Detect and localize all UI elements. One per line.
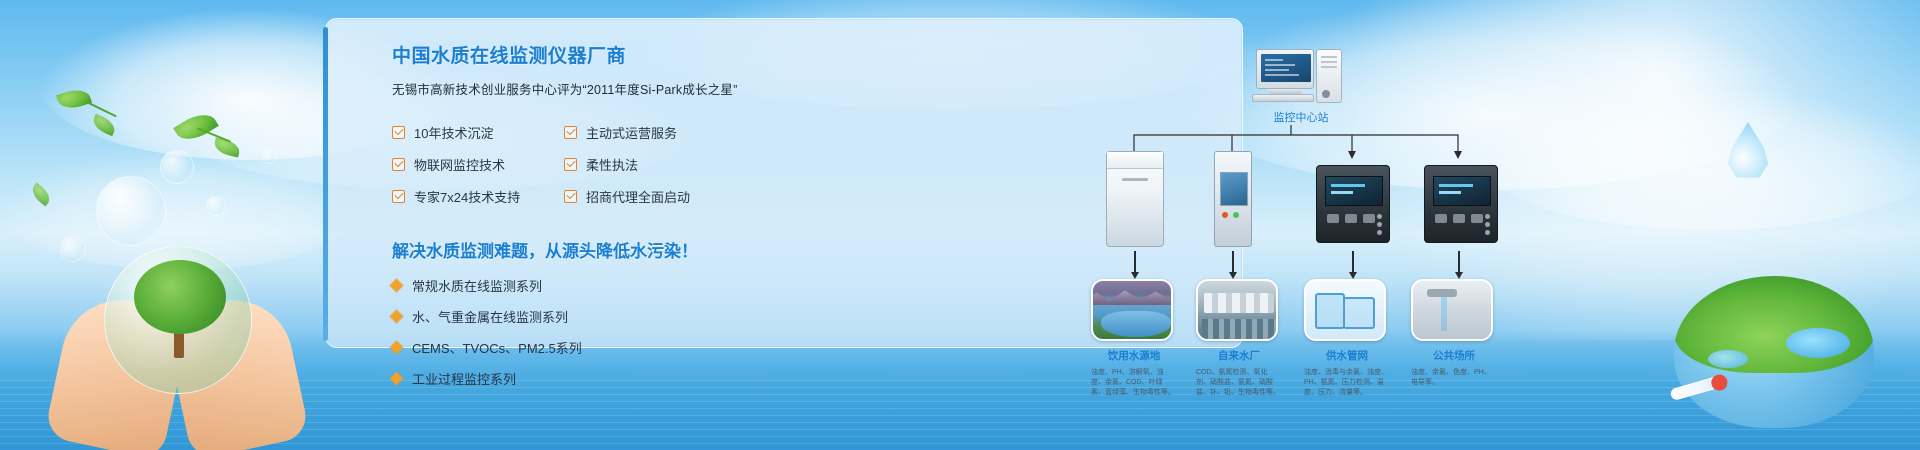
bubble-shape [96,176,166,246]
list-item[interactable]: CEMS、TVOCs、PM2.5系列 [392,338,732,357]
cloud-shape [1480,90,1920,230]
leaf-icon [213,137,242,157]
bubble-shape [60,236,86,262]
status-led-green [1233,212,1239,218]
keyboard-icon [1252,94,1314,102]
tree-trunk [174,324,184,358]
leaf-icon [173,107,219,147]
feature-label: 柔性执法 [586,155,638,174]
site-description: COD、氨氮检测、氧化剂、硝酸盐、氨氮、硝酸盐、钋、铅、生物毒性等。 [1196,368,1280,398]
site-card[interactable]: 公共场所 浊度、余氯、色度、PH、电导率。 [1411,279,1497,388]
site-card[interactable]: 自来水厂 COD、氨氮检测、氧化剂、硝酸盐、氨氮、硝酸盐、钋、铅、生物毒性等。 [1196,279,1282,398]
monitoring-center-label: 监控中心站 [1226,109,1376,125]
checkbox-checked-icon [392,126,405,139]
bubble-shape [262,150,276,164]
feature-item[interactable]: 10年技术沉淀 [392,123,564,142]
checkbox-checked-icon [564,190,577,203]
device-buttons[interactable] [1327,214,1375,223]
device-lcd-display [1433,176,1491,206]
status-led-red [1222,212,1228,218]
site-title: 公共场所 [1411,348,1497,363]
checkbox-checked-icon [392,158,405,171]
device-indicators [1377,214,1382,235]
product-series-list: 常规水质在线监测系列 水、气重金属在线监测系列 CEMS、TVOCs、PM2.5… [392,276,732,388]
list-item-label: CEMS、TVOCs、PM2.5系列 [412,338,582,357]
device-controller-wide[interactable] [1316,151,1390,243]
site-title: 供水管网 [1304,348,1390,363]
system-topology-diagram: 监控中心站 [1086,41,1506,361]
banner-card: 中国水质在线监测仪器厂商 无锡市高新技术创业服务中心评为“2011年度Si-Pa… [325,18,1243,348]
checkbox-checked-icon [564,126,577,139]
feature-label: 10年技术沉淀 [414,123,493,142]
site-description: 浊度、消毒与余氯、浊度、PH、氨氮、压力检测、温度、压力、流量等。 [1304,368,1388,398]
site-title: 自来水厂 [1196,348,1282,363]
water-surface [0,330,1920,450]
globe-lake [1708,350,1748,368]
site-card[interactable]: 饮用水源地 浊度、PH、溶解氧、浊度、余氯、COD、叶绿素、蓝绿藻、生物毒性等。 [1091,279,1177,398]
site-photo-water-plant [1196,279,1278,341]
feature-label: 物联网监控技术 [414,155,505,174]
bubble-shape [160,150,194,184]
leaf-icon [56,85,92,112]
flow-arrow-down-icon [1458,251,1460,273]
cloud-shape [0,150,360,270]
device-body [1424,165,1498,243]
flow-arrow-down-icon [1134,251,1136,273]
device-rack-analyzer[interactable] [1214,151,1252,247]
feature-item[interactable]: 招商代理全面启动 [564,187,736,206]
device-buttons[interactable] [1435,214,1483,223]
hands-holding-tree-illustration [52,240,302,450]
site-title: 饮用水源地 [1091,348,1177,363]
feature-label: 招商代理全面启动 [586,187,690,206]
checkbox-checked-icon [564,158,577,171]
thermometer-icon [1669,375,1724,401]
site-photo-water-network [1304,279,1386,341]
globe-lake [1786,328,1850,358]
device-row [1086,151,1506,247]
list-item[interactable]: 常规水质在线监测系列 [392,276,732,295]
stem-shape [197,127,231,142]
device-window [1220,172,1248,206]
monitor-icon [1256,49,1314,89]
glass-sphere [104,246,252,394]
leaf-icon [28,182,53,206]
device-controller-narrow[interactable] [1424,151,1498,243]
diamond-bullet-icon [390,372,403,385]
feature-label: 主动式运营服务 [586,123,677,142]
bubble-shape [206,196,226,216]
monitor-screen [1261,54,1311,82]
device-cabinet-analyzer[interactable] [1106,151,1164,247]
feature-checklist: 10年技术沉淀 主动式运营服务 物联网监控技术 柔性执法 专家7x24技术支持 … [392,123,732,206]
feature-item[interactable]: 专家7x24技术支持 [392,187,564,206]
feature-item[interactable]: 主动式运营服务 [564,123,736,142]
list-item[interactable]: 工业过程监控系列 [392,369,732,388]
diamond-bullet-icon [390,341,403,354]
device-body [1316,165,1390,243]
device-top-panel [1107,152,1163,169]
checkbox-checked-icon [392,190,405,203]
page-subtitle: 无锡市高新技术创业服务中心评为“2011年度Si-Park成长之星” [392,79,732,98]
device-body [1106,151,1164,247]
flow-arrow-down-icon [1352,251,1354,273]
leaf-icon [90,114,118,137]
tree-crown [134,260,226,334]
device-indicators [1485,214,1490,235]
device-body [1214,151,1252,247]
flow-arrow-down-icon [1232,251,1234,273]
site-description: 浊度、PH、溶解氧、浊度、余氯、COD、叶绿素、蓝绿藻、生物毒性等。 [1091,368,1175,398]
diamond-bullet-icon [390,310,403,323]
site-photo-public-place [1411,279,1493,341]
device-handle [1122,178,1148,181]
globe-land [1674,276,1874,373]
pc-tower-icon [1316,49,1342,103]
earth-globe-illustration [1674,276,1874,428]
left-content-column: 中国水质在线监测仪器厂商 无锡市高新技术创业服务中心评为“2011年度Si-Pa… [392,41,732,400]
feature-item[interactable]: 柔性执法 [564,155,736,174]
hand-shape [162,289,311,450]
site-description: 浊度、余氯、色度、PH、电导率。 [1411,368,1495,388]
water-droplet-icon [1726,122,1770,180]
stem-shape [85,101,116,118]
list-item-label: 工业过程监控系列 [412,369,516,388]
list-item-label: 水、气重金属在线监测系列 [412,307,568,326]
section-heading: 解决水质监测难题，从源头降低水污染！ [392,237,732,262]
diamond-bullet-icon [390,279,403,292]
monitoring-center-computer-icon [1256,49,1346,105]
list-item[interactable]: 水、气重金属在线监测系列 [392,307,732,326]
hand-shape [44,289,193,450]
list-item-label: 常规水质在线监测系列 [412,276,542,295]
site-card[interactable]: 供水管网 浊度、消毒与余氯、浊度、PH、氨氮、压力检测、温度、压力、流量等。 [1304,279,1390,398]
feature-item[interactable]: 物联网监控技术 [392,155,564,174]
device-lcd-display [1325,176,1383,206]
page-title: 中国水质在线监测仪器厂商 [392,41,732,68]
feature-label: 专家7x24技术支持 [414,187,520,206]
site-photo-drinking-water-source [1091,279,1173,341]
